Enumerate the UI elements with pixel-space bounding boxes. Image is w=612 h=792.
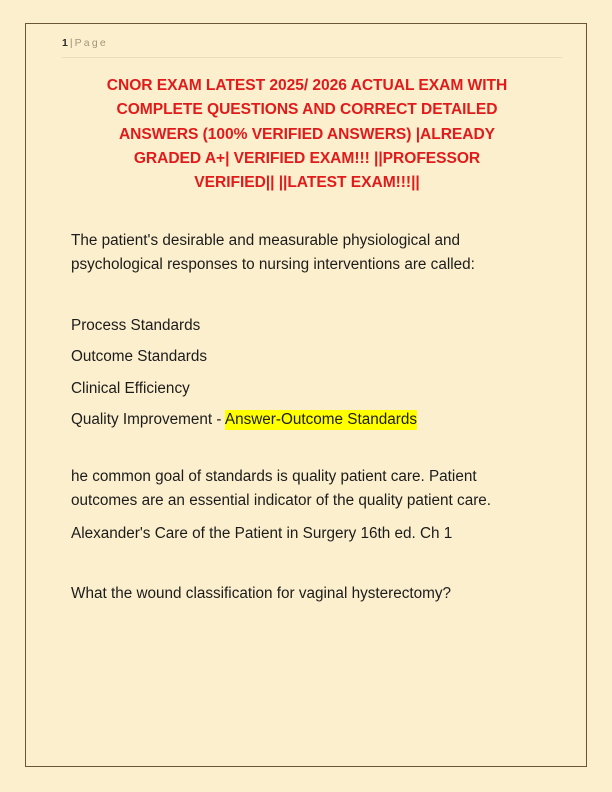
page-number: 1: [62, 37, 68, 49]
answer-option-4: Quality Improvement - Answer-Outcome Sta…: [71, 408, 561, 440]
document-page: 1|Page CNOR EXAM LATEST 2025/ 2026 ACTUA…: [25, 23, 587, 767]
highlighted-answer: Answer-Outcome Standards: [225, 410, 417, 430]
answer-option-2: Outcome Standards: [71, 345, 561, 377]
document-title: CNOR EXAM LATEST 2025/ 2026 ACTUAL EXAM …: [66, 74, 548, 195]
answer-option-3: Clinical Efficiency: [71, 377, 561, 409]
spacer-after-prompt: [71, 278, 561, 314]
title-line-1: CNOR EXAM LATEST 2025/ 2026 ACTUAL EXAM …: [66, 74, 548, 98]
spacer-before-next-question: [71, 546, 561, 582]
explanation-text: he common goal of standards is quality p…: [71, 465, 539, 514]
header-separator: |: [68, 37, 75, 49]
answer-option-4-label: Quality Improvement -: [71, 411, 225, 428]
spacer-before-citation: [71, 514, 561, 522]
spacer-after-options: [71, 440, 561, 465]
title-line-2: COMPLETE QUESTIONS AND CORRECT DETAILED: [66, 98, 548, 122]
page-label: 1|Page: [62, 36, 560, 50]
title-line-3: ANSWERS (100% VERIFIED ANSWERS) |ALREADY: [66, 123, 548, 147]
title-line-5: VERIFIED|| ||LATEST EXAM!!!||: [66, 171, 548, 195]
header-divider: [62, 57, 562, 58]
question-prompt: The patient's desirable and measurable p…: [71, 229, 539, 278]
page-word: Page: [75, 37, 108, 49]
document-body: The patient's desirable and measurable p…: [71, 229, 561, 606]
answer-option-1: Process Standards: [71, 314, 561, 346]
source-citation: Alexander's Care of the Patient in Surge…: [71, 522, 561, 546]
page-content-area: 1|Page CNOR EXAM LATEST 2025/ 2026 ACTUA…: [26, 24, 586, 766]
next-question-prompt: What the wound classification for vagina…: [71, 582, 561, 606]
title-line-4: GRADED A+| VERIFIED EXAM!!! ||PROFESSOR: [66, 147, 548, 171]
